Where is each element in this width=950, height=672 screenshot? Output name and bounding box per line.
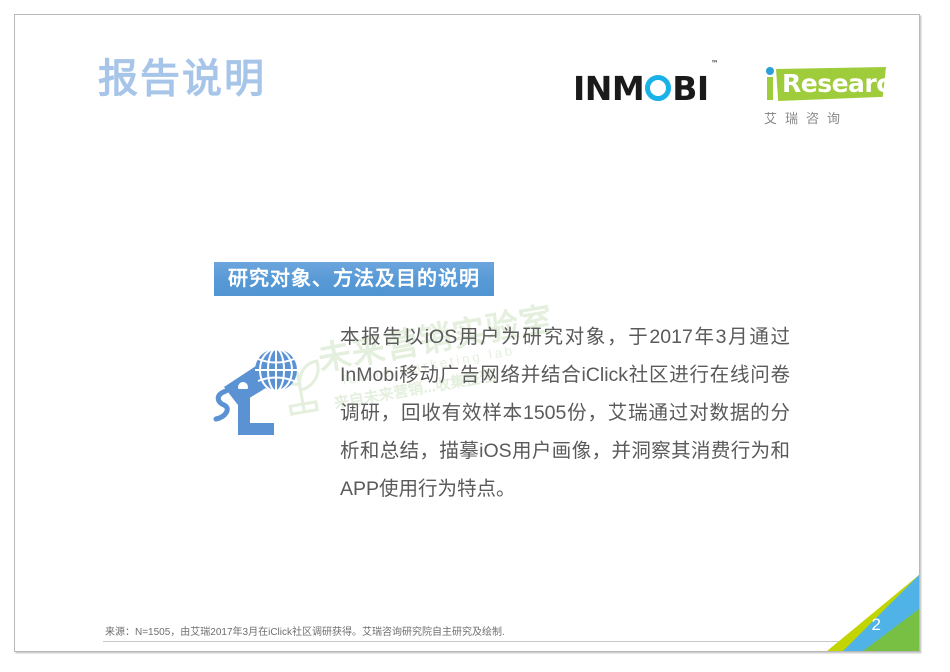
section-banner-label: 研究对象、方法及目的说明 [228, 269, 480, 289]
source-note: 来源：N=1505，由艾瑞2017年3月在iClick社区调研获得。艾瑞咨询研究… [105, 623, 505, 638]
inmobi-wordmark: INM BI ™ [573, 72, 718, 105]
iresearch-mark: Research [760, 65, 888, 105]
trademark-mark: ™ [711, 60, 719, 68]
slide-page: 报告说明 INM BI ™ Research 艾瑞咨询 未来营销实验室 futu… [14, 14, 920, 652]
inmobi-text-before: INM [573, 72, 644, 105]
iresearch-chinese-name: 艾瑞咨询 [760, 108, 888, 127]
iresearch-i-stem [767, 77, 773, 100]
corner-triangle-decoration [827, 575, 919, 651]
page-title: 报告说明 [98, 59, 266, 99]
inmobi-logo: INM BI ™ [573, 71, 718, 105]
inmobi-o-ring-icon [645, 75, 671, 101]
footer-divider-top [103, 641, 860, 642]
page-number: 2 [872, 616, 881, 633]
iresearch-logo: Research 艾瑞咨询 [760, 65, 888, 127]
microphone-globe-icon [204, 345, 304, 440]
inmobi-text-after: BI [672, 72, 708, 105]
iresearch-i-dot-icon [766, 67, 774, 75]
section-banner: 研究对象、方法及目的说明 [214, 262, 494, 296]
iresearch-wordmark: Research [782, 70, 908, 98]
body-paragraph: 本报告以iOS用户为研究对象，于2017年3月通过InMobi移动广告网络并结合… [340, 318, 790, 508]
